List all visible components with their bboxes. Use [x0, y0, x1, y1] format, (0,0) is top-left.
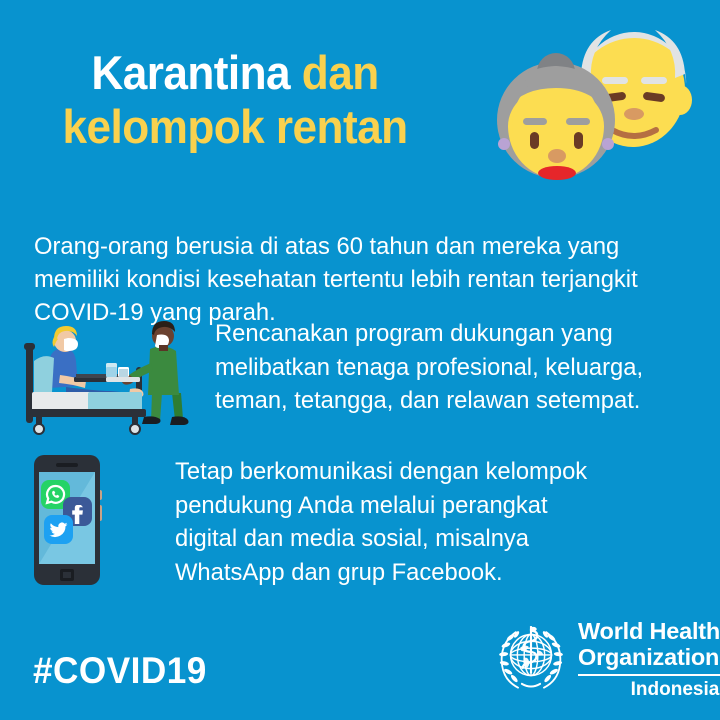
- who-wordmark: World Health Organization Indonesia: [578, 618, 720, 701]
- who-emblem-icon: [493, 620, 569, 701]
- bullet-row-support-program: Rencanakan program dukungan yang melibat…: [20, 305, 665, 440]
- who-name-line1: World Health: [578, 618, 720, 644]
- hashtag-covid19: #COVID19: [33, 650, 207, 692]
- title-line-1: Karantina dan: [14, 46, 456, 100]
- patient-figure: [48, 326, 143, 403]
- who-name-line2: Organization: [578, 644, 720, 670]
- poster-title: Karantina dan kelompok rentan: [0, 46, 470, 154]
- hospital-bed-care-illustration: [20, 305, 195, 440]
- poster-canvas: Karantina dan kelompok rentan: [0, 0, 720, 720]
- bullet-row-stay-connected: Tetap berkomunikasi dengan kelompok pend…: [20, 450, 625, 595]
- bullet-text-support-program: Rencanakan program dukungan yang melibat…: [215, 305, 652, 418]
- elderly-couple-emoji: [478, 22, 710, 192]
- title-word-karantina: Karantina: [91, 46, 290, 99]
- title-line-2: kelompok rentan: [14, 100, 456, 154]
- twitter-icon: [44, 515, 73, 544]
- who-divider: [578, 674, 720, 676]
- title-word-dan: dan: [302, 46, 379, 99]
- smartphone-social-media-illustration: [20, 450, 130, 595]
- who-country-label: Indonesia: [578, 679, 720, 701]
- who-logo: World Health Organization Indonesia: [493, 618, 720, 701]
- bullet-text-stay-connected: Tetap berkomunikasi dengan kelompok pend…: [175, 450, 612, 589]
